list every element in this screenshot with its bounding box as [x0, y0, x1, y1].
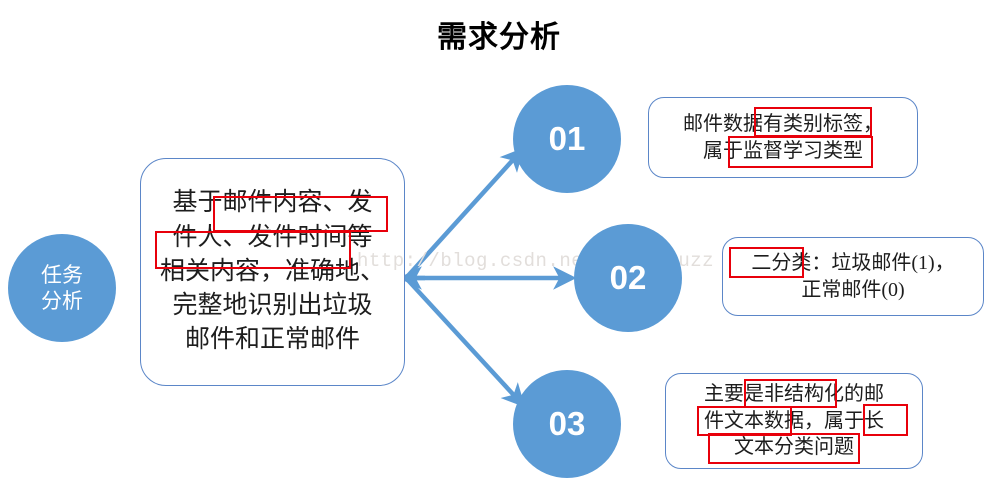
- main-box-line-3: 相关内容，准确地、: [160, 255, 385, 289]
- box-02-line-1: 二分类：垃圾邮件(1)，: [751, 250, 954, 276]
- box-01-line-1: 邮件数据有类别标签，: [683, 111, 883, 137]
- branch-circle-01[interactable]: 01: [513, 85, 621, 193]
- root-node-label-line1: 任务: [41, 262, 83, 288]
- branch-circle-02[interactable]: 02: [574, 224, 682, 332]
- branch-circle-03-number: 03: [549, 405, 586, 443]
- page-title: 需求分析: [0, 12, 998, 56]
- slide-canvas: 需求分析 http://blog.csdn.net/loveliuzz 任务 分…: [0, 0, 998, 503]
- root-node-label-line2: 分析: [41, 288, 83, 314]
- main-box-line-1: 基于邮件内容、发: [160, 186, 385, 220]
- box-03-line-2: 件文本数据，属于长: [704, 408, 884, 434]
- branch-circle-02-number: 02: [610, 259, 647, 297]
- main-box-line-4: 完整地识别出垃圾: [160, 289, 385, 323]
- box-03-line-1: 主要是非结构化的邮: [704, 381, 884, 407]
- box-01-line-2: 属于监督学习类型: [683, 138, 883, 164]
- main-box-line-2: 件人、发件时间等: [160, 221, 385, 255]
- main-description-box[interactable]: 基于邮件内容、发 件人、发件时间等 相关内容，准确地、 完整地识别出垃圾 邮件和…: [140, 158, 405, 386]
- box-03-line-3: 文本分类问题: [704, 434, 884, 460]
- branch-text-box-01[interactable]: 邮件数据有类别标签， 属于监督学习类型: [648, 97, 918, 178]
- branch-text-box-03[interactable]: 主要是非结构化的邮 件文本数据，属于长 文本分类问题: [665, 373, 923, 469]
- branch-circle-01-number: 01: [549, 120, 586, 158]
- branch-text-box-02[interactable]: 二分类：垃圾邮件(1)， 正常邮件(0): [722, 237, 984, 316]
- box-02-line-2: 正常邮件(0): [751, 277, 954, 303]
- branch-circle-03[interactable]: 03: [513, 370, 621, 478]
- root-node-task-analysis[interactable]: 任务 分析: [8, 234, 116, 342]
- main-box-line-5: 邮件和正常邮件: [160, 323, 385, 357]
